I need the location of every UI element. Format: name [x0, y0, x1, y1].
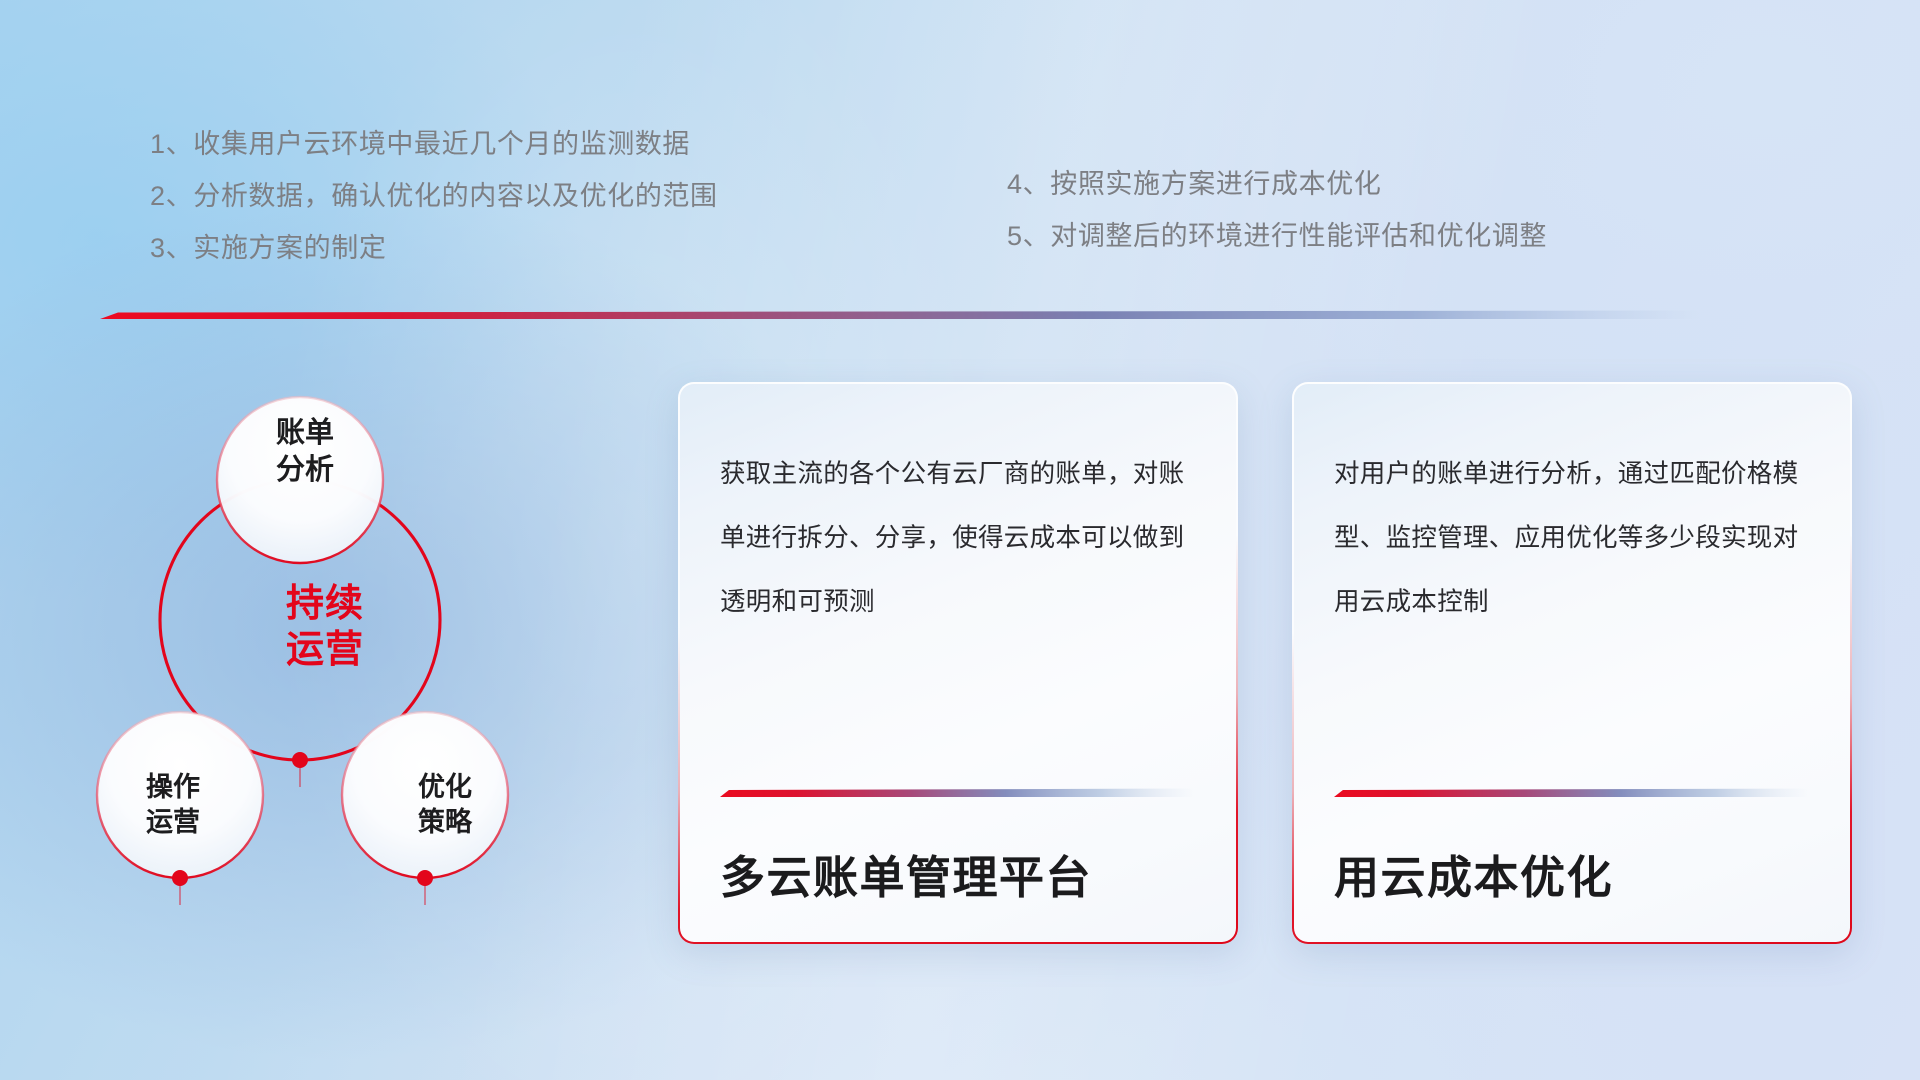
- feature-card-cloud-cost-optimization[interactable]: 对用户的账单进行分析，通过匹配价格模型、监控管理、应用优化等多少段实现对用云成本…: [1292, 382, 1852, 944]
- steps-list-left: 1、收集用户云环境中最近几个月的监测数据 2、分析数据，确认优化的内容以及优化的…: [150, 118, 718, 274]
- step-item: 2、分析数据，确认优化的内容以及优化的范围: [150, 170, 718, 222]
- venn-dot-left: [172, 870, 188, 886]
- card-accent-bar: [720, 788, 1196, 797]
- step-item: 3、实施方案的制定: [150, 222, 718, 274]
- card-inner: 对用户的账单进行分析，通过匹配价格模型、监控管理、应用优化等多少段实现对用云成本…: [1294, 384, 1850, 942]
- steps-list-right: 4、按照实施方案进行成本优化 5、对调整后的环境进行性能评估和优化调整: [1007, 158, 1547, 262]
- venn-label-optimization-strategy: 优化 策略: [375, 770, 515, 839]
- card-inner: 获取主流的各个公有云厂商的账单，对账单进行拆分、分享，使得云成本可以做到透明和可…: [680, 384, 1236, 942]
- venn-dot-top: [292, 752, 308, 768]
- feature-card-multicloud-billing[interactable]: 获取主流的各个公有云厂商的账单，对账单进行拆分、分享，使得云成本可以做到透明和可…: [678, 382, 1238, 944]
- step-item: 1、收集用户云环境中最近几个月的监测数据: [150, 118, 718, 170]
- card-title: 多云账单管理平台: [720, 853, 1196, 903]
- venn-center-label: 持续 运营: [240, 582, 410, 673]
- card-body-text: 获取主流的各个公有云厂商的账单，对账单进行拆分、分享，使得云成本可以做到透明和可…: [720, 442, 1196, 634]
- venn-dot-right: [417, 870, 433, 886]
- card-accent-bar: [1334, 788, 1810, 797]
- step-item: 4、按照实施方案进行成本优化: [1007, 158, 1547, 210]
- venn-label-bill-analysis: 账单 分析: [230, 415, 380, 489]
- card-body-text: 对用户的账单进行分析，通过匹配价格模型、监控管理、应用优化等多少段实现对用云成本…: [1334, 442, 1810, 634]
- section-divider: [100, 310, 1700, 319]
- step-item: 5、对调整后的环境进行性能评估和优化调整: [1007, 210, 1547, 262]
- card-title: 用云成本优化: [1334, 853, 1810, 903]
- venn-label-operations: 操作 运营: [103, 770, 243, 839]
